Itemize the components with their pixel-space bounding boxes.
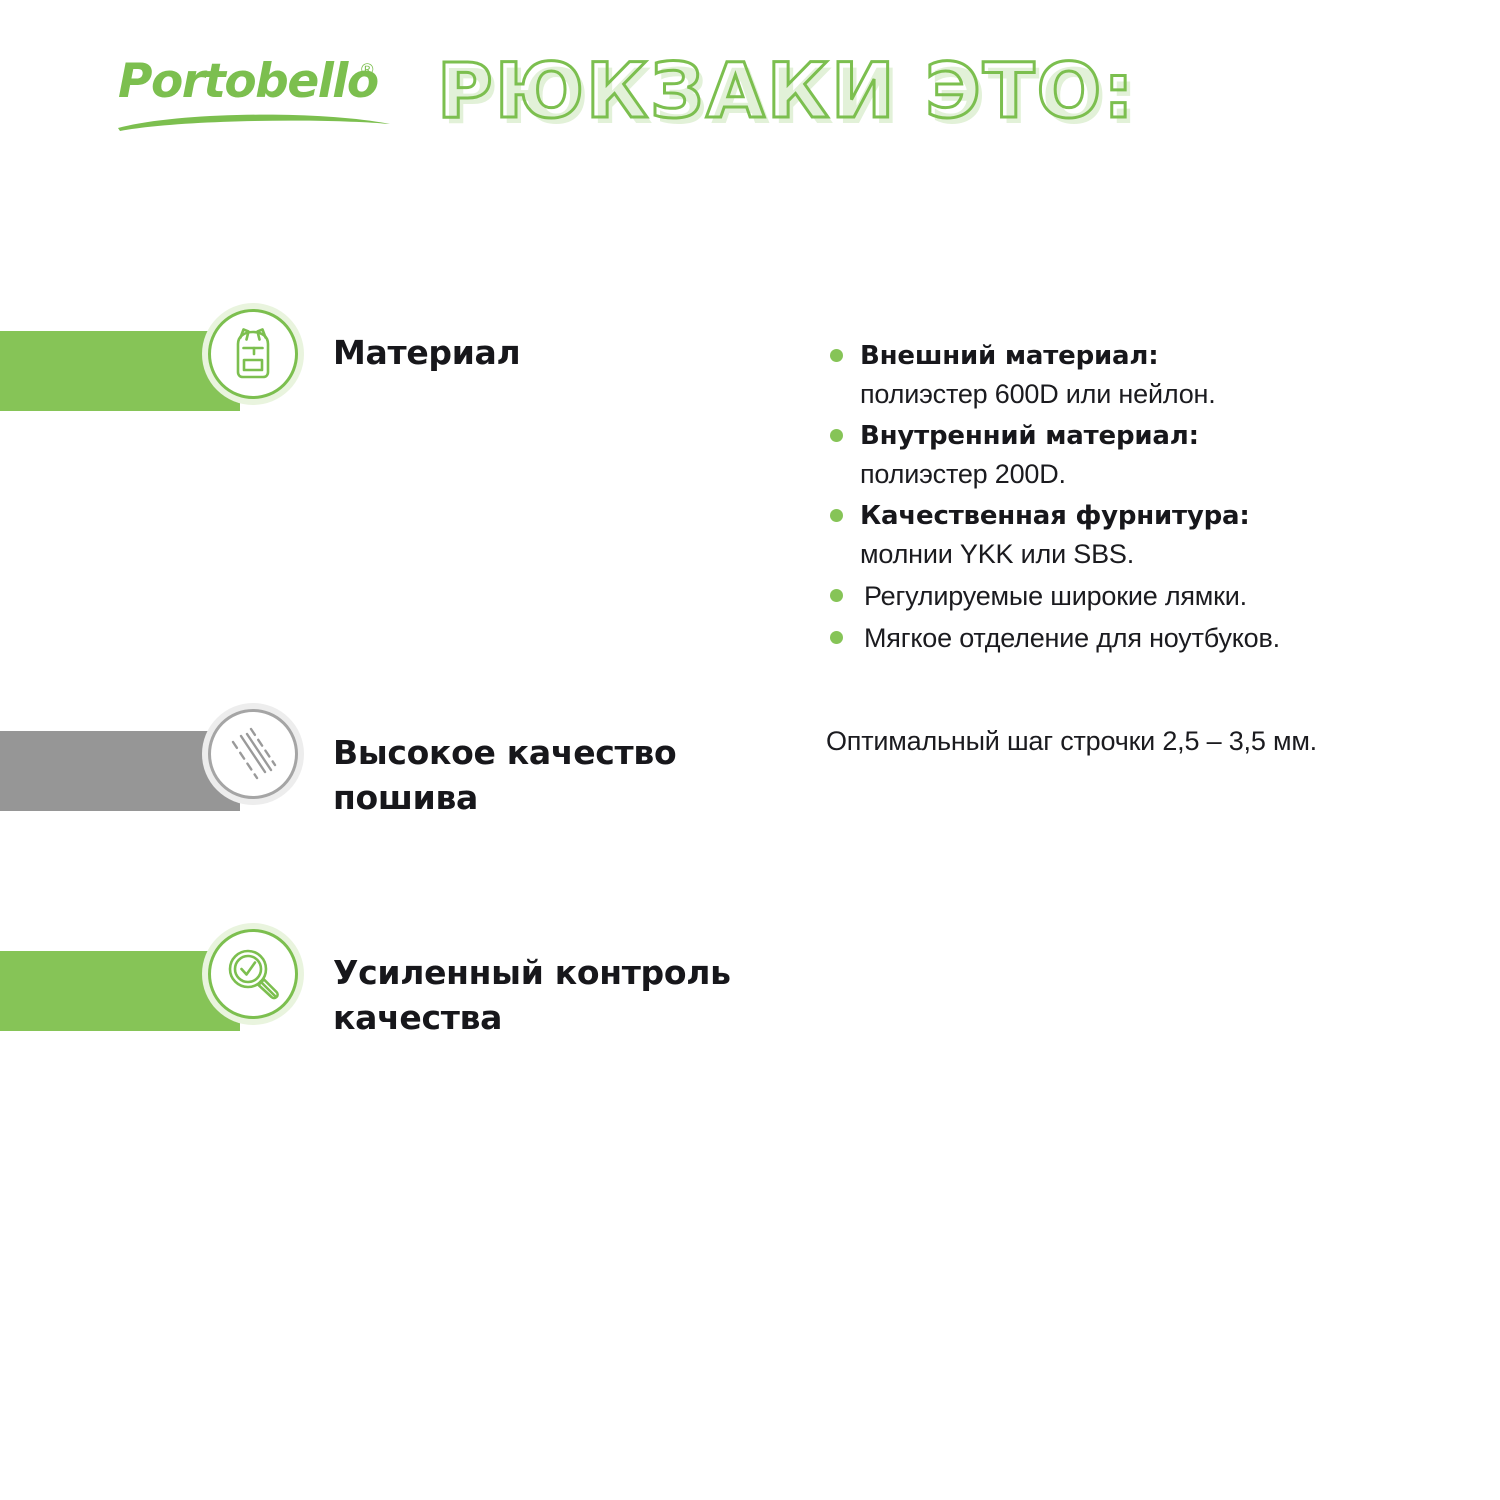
feature-icon-badge — [202, 303, 304, 405]
brand-logo: Portobello ® — [118, 58, 408, 148]
feature-icon-badge — [202, 703, 304, 805]
page-title: РЮКЗАКИ ЭТО: — [437, 53, 1136, 129]
material-bullet-list: Внешний материал: полиэстер 600D или ней… — [826, 337, 1426, 661]
bullet-heading: Внутренний материал: — [860, 417, 1426, 455]
feature-label-stitch-quality: Высокое качество пошива — [333, 730, 676, 820]
bullet-description: Мягкое отделение для ноутбуков. — [860, 619, 1426, 657]
feature-icon-badge — [202, 923, 304, 1025]
bullet-description: полиэстер 600D или нейлон. — [860, 375, 1426, 413]
bullet-heading: Внешний материал: — [860, 337, 1426, 375]
bullet-dot-icon — [830, 631, 843, 644]
page-header: Portobello ® РЮКЗАКИ ЭТО: — [0, 0, 1500, 200]
bullet-dot-icon — [830, 589, 843, 602]
backpack-icon — [223, 324, 283, 384]
bullet-dot-icon — [830, 429, 843, 442]
bullet-description: полиэстер 200D. — [860, 455, 1426, 493]
list-item: Регулируемые широкие лямки. — [826, 577, 1426, 615]
bullet-dot-icon — [830, 349, 843, 362]
registered-trademark-icon: ® — [361, 60, 374, 80]
bullet-dot-icon — [830, 509, 843, 522]
brand-logo-text: Portobello — [118, 58, 378, 105]
magnifier-check-icon — [223, 944, 283, 1004]
stitching-icon — [223, 724, 283, 784]
list-item: Мягкое отделение для ноутбуков. — [826, 619, 1426, 657]
list-item: Внешний материал: полиэстер 600D или ней… — [826, 337, 1426, 413]
list-item: Внутренний материал: полиэстер 200D. — [826, 417, 1426, 493]
feature-label-quality-control: Усиленный контроль качества — [333, 950, 731, 1040]
bullet-description: молнии YKK или SBS. — [860, 535, 1426, 573]
feature-label-material: Материал — [333, 330, 520, 375]
brand-swoosh-icon — [118, 110, 390, 132]
stitch-quality-note: Оптимальный шаг строчки 2,5 – 3,5 мм. — [826, 722, 1317, 760]
bullet-heading: Качественная фурнитура: — [860, 497, 1426, 535]
bullet-description: Регулируемые широкие лямки. — [860, 577, 1426, 615]
list-item: Качественная фурнитура: молнии YKK или S… — [826, 497, 1426, 573]
